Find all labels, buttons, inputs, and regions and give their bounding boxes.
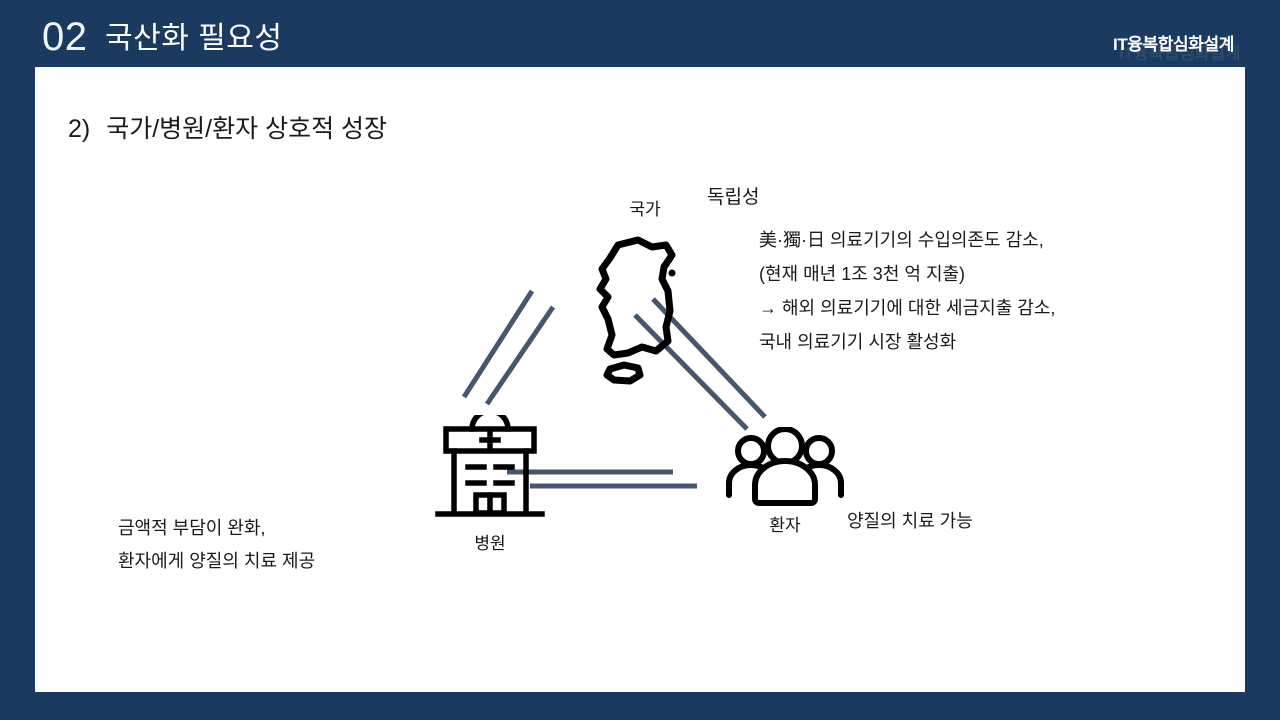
connector-nation-hospital xyxy=(464,291,553,404)
content-card: 2)국가/병원/환자 상호적 성장 xyxy=(35,67,1245,692)
people-group-icon xyxy=(705,427,865,507)
slide-header: 02 국산화 필요성 IT융복합심화설계 IT융복합심화설계 xyxy=(0,0,1280,67)
annotation-line: 美·獨·日 의료기기의 수입의존도 감소, xyxy=(759,223,1227,257)
brand-text: IT융복합심화설계 xyxy=(1113,35,1234,55)
annotation-line: 국내 의료기기 시장 활성화 xyxy=(759,325,1227,359)
node-nation-label: 국가 xyxy=(580,199,710,221)
header-title: 국산화 필요성 xyxy=(105,21,282,57)
annotation-patient-note: 양질의 치료 가능 xyxy=(847,507,1147,535)
hospital-building-icon xyxy=(410,415,570,525)
annotation-line: 환자에게 양질의 치료 제공 xyxy=(118,545,478,578)
annotation-line: 금액적 부담이 완화, xyxy=(118,512,478,545)
brand-mark: IT융복합심화설계 IT융복합심화설계 xyxy=(1020,28,1240,67)
node-patients[interactable]: 환자 xyxy=(705,427,865,537)
annotation-hospital-note: 금액적 부담이 완화, 환자에게 양질의 치료 제공 xyxy=(118,512,478,578)
annotation-independence-lines: 美·獨·日 의료기기의 수입의존도 감소, (현재 매년 1조 3천 억 지출)… xyxy=(707,223,1227,359)
south-korea-map-icon xyxy=(580,223,710,388)
slide: 02 국산화 필요성 IT융복합심화설계 IT융복합심화설계 2)국가/병원/환… xyxy=(0,0,1280,720)
annotation-independence-heading: 독립성 xyxy=(707,185,1227,211)
annotation-independence: 독립성 美·獨·日 의료기기의 수입의존도 감소, (현재 매년 1조 3천 억… xyxy=(707,185,1227,359)
annotation-line: 양질의 치료 가능 xyxy=(847,507,1147,535)
header-section-number: 02 xyxy=(42,15,88,59)
annotation-line: → 해외 의료기기에 대한 세금지출 감소, xyxy=(759,291,1227,325)
node-nation[interactable]: 국가 xyxy=(580,199,710,388)
triangle-diagram: 국가 xyxy=(35,67,1245,692)
annotation-line: (현재 매년 1조 3천 억 지출) xyxy=(759,257,1227,291)
node-patients-label: 환자 xyxy=(705,515,865,537)
